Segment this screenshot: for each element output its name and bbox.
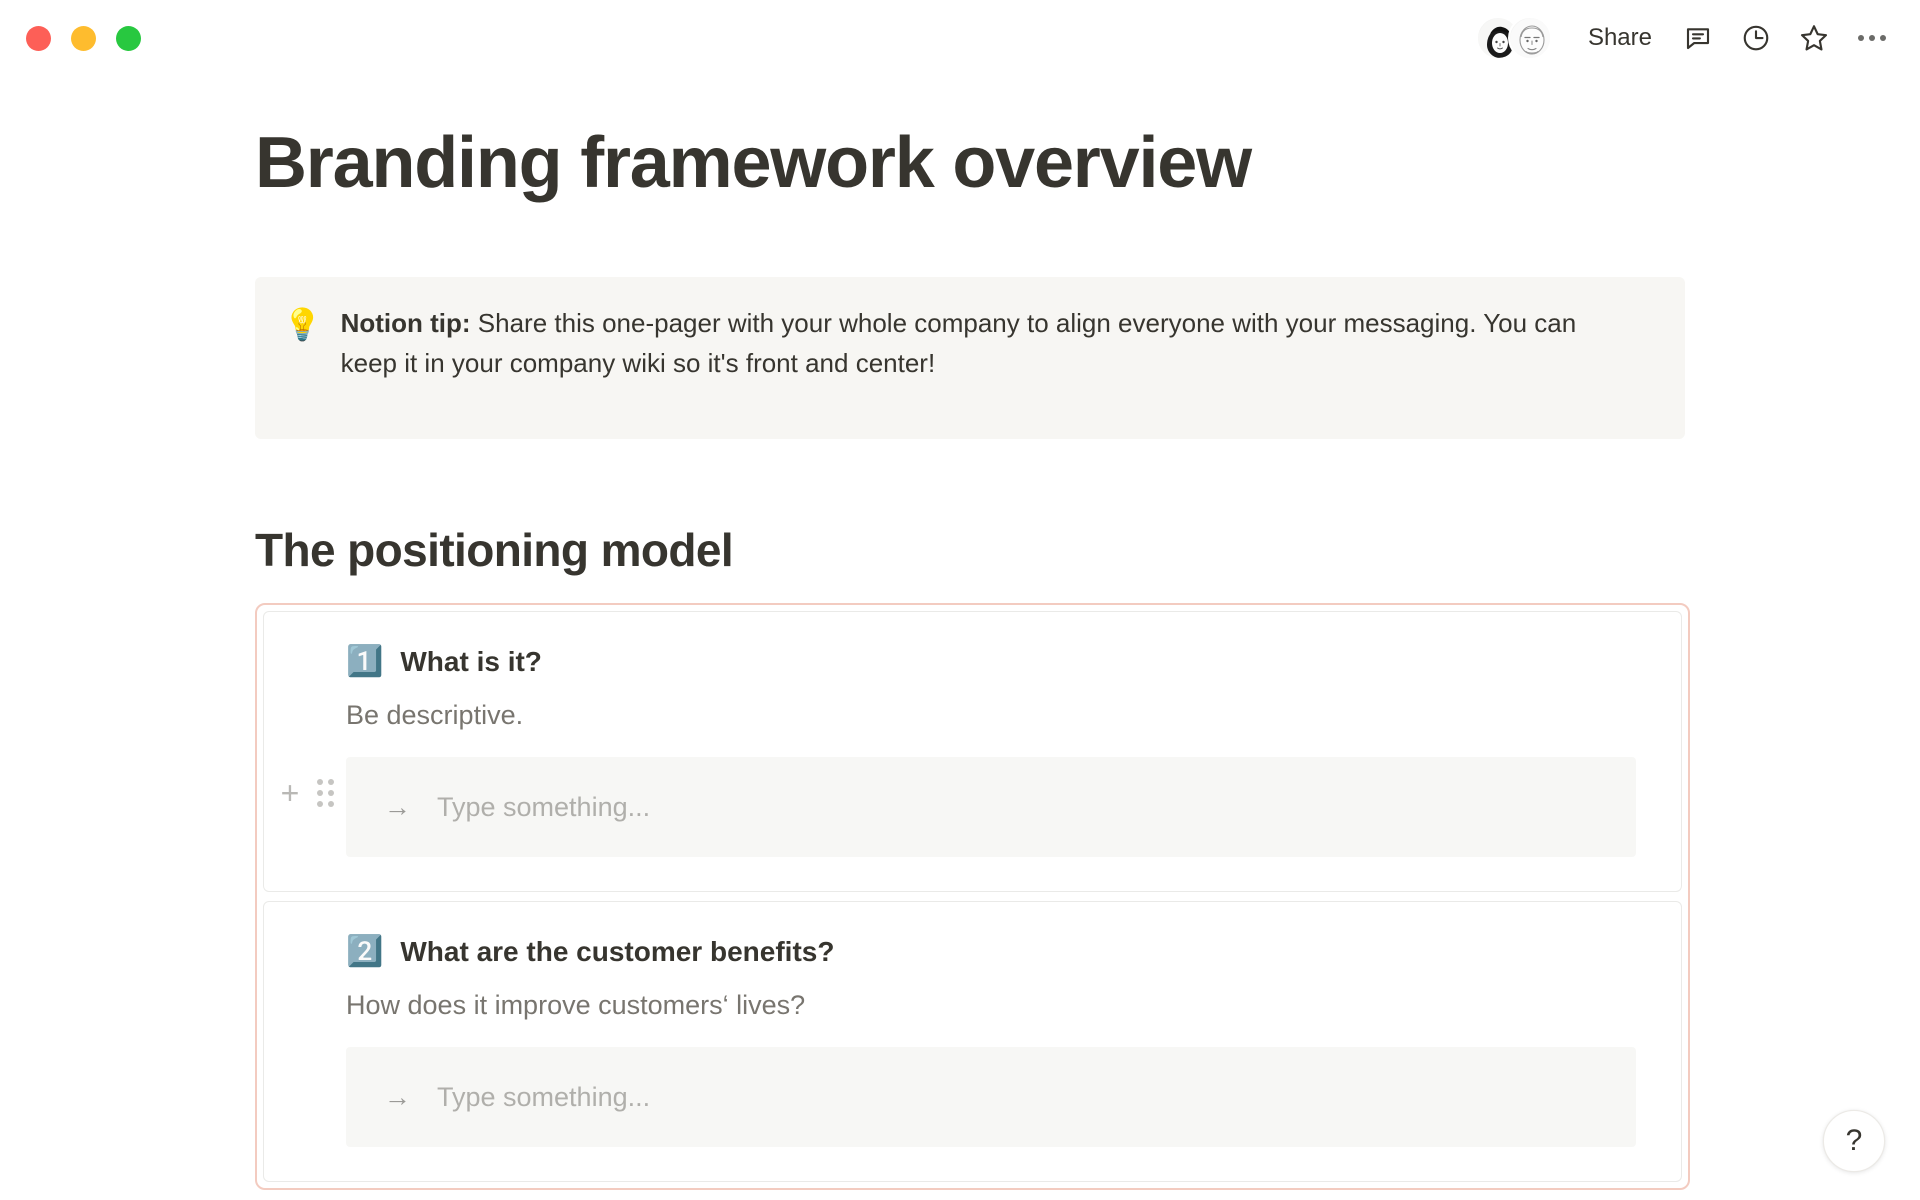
help-button[interactable]: ? [1823,1110,1885,1172]
add-block-icon[interactable]: + [276,779,304,807]
arrow-right-icon: → [384,794,411,821]
page-body: Branding framework overview 💡 Notion tip… [0,76,1920,1200]
answer-input-placeholder: Type something... [437,1082,650,1113]
title-bar: Share [0,0,1920,76]
question-card: 2️⃣ What are the customer benefits? How … [263,901,1682,1182]
more-icon[interactable] [1846,12,1898,64]
callout-text: Notion tip: Share this one-pager with yo… [341,303,1611,384]
favorite-icon[interactable] [1788,12,1840,64]
block-gutter-controls: + [276,779,338,807]
question-title[interactable]: What are the customer benefits? [400,936,834,968]
avatar[interactable] [1508,16,1552,60]
callout-bold-prefix: Notion tip: [341,308,471,338]
keycap-one-icon: 1️⃣ [346,647,383,677]
light-bulb-icon: 💡 [283,309,322,340]
drag-handle-icon[interactable] [314,779,338,807]
answer-input[interactable]: → Type something... [346,1047,1636,1147]
close-window-button[interactable] [26,26,51,51]
history-icon[interactable] [1730,12,1782,64]
section-heading[interactable]: The positioning model [255,523,1685,577]
collaborator-avatars[interactable] [1476,16,1552,60]
question-header: 1️⃣ What is it? [264,646,1681,678]
question-subtitle: How does it improve customers‘ lives? [264,990,1681,1021]
share-button[interactable]: Share [1574,16,1666,60]
positioning-model-container: 1️⃣ What is it? Be descriptive. + → [255,603,1690,1190]
callout-body: Share this one-pager with your whole com… [341,308,1577,378]
page-title[interactable]: Branding framework overview [255,124,1685,203]
question-card: 1️⃣ What is it? Be descriptive. + → [263,611,1682,892]
comment-icon[interactable] [1672,12,1724,64]
maximize-window-button[interactable] [116,26,141,51]
answer-input-placeholder: Type something... [437,792,650,823]
window-controls [26,26,141,51]
ellipsis-glyph [1858,35,1886,41]
question-input-row: + → Type something... [264,757,1681,857]
callout-block[interactable]: 💡 Notion tip: Share this one-pager with … [255,277,1685,439]
answer-input[interactable]: → Type something... [346,757,1636,857]
arrow-right-icon: → [384,1084,411,1111]
page-content: Branding framework overview 💡 Notion tip… [255,76,1685,1190]
minimize-window-button[interactable] [71,26,96,51]
question-subtitle: Be descriptive. [264,700,1681,731]
question-input-row: → Type something... [264,1047,1681,1147]
question-title[interactable]: What is it? [400,646,542,678]
toolbar-actions: Share [1476,0,1898,76]
question-header: 2️⃣ What are the customer benefits? [264,936,1681,968]
app-window: Share [0,0,1920,1200]
keycap-two-icon: 2️⃣ [346,937,383,967]
